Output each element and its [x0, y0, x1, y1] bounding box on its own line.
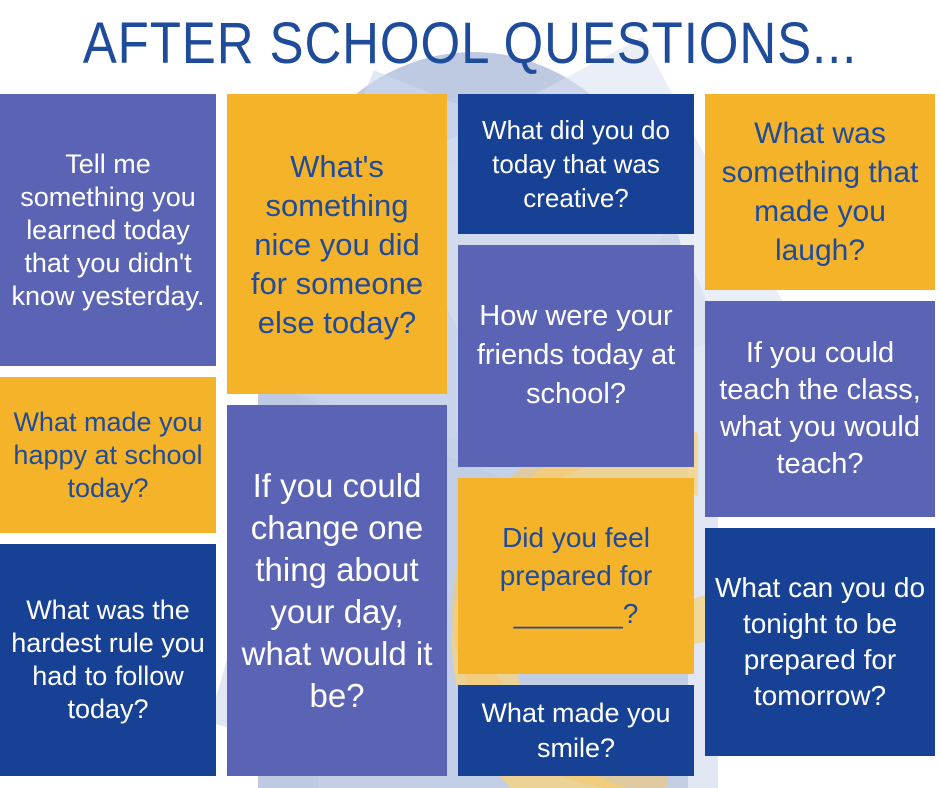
question-card-q7[interactable]: How were your friends today at school? — [458, 245, 694, 467]
question-text: How were your friends today at school? — [466, 297, 686, 414]
question-text: What was something that made you laugh? — [713, 114, 927, 270]
question-text: What can you do tonight to be prepared f… — [713, 570, 927, 714]
column-4: What was something that made you laugh? … — [705, 94, 935, 776]
question-card-q2[interactable]: What made you happy at school today? — [0, 377, 216, 533]
question-card-q11[interactable]: If you could teach the class, what you w… — [705, 301, 935, 517]
question-card-grid: Tell me something you learned today that… — [0, 94, 940, 776]
column-1: Tell me something you learned today that… — [0, 94, 216, 776]
question-card-q12[interactable]: What can you do tonight to be prepared f… — [705, 528, 935, 756]
question-text: Tell me something you learned today that… — [8, 148, 208, 313]
question-text: What was the hardest rule you had to fol… — [8, 594, 208, 726]
question-card-q6[interactable]: What did you do today that was creative? — [458, 94, 694, 234]
question-text: If you could change one thing about your… — [235, 465, 439, 717]
question-text: What did you do today that was creative? — [466, 113, 686, 215]
column-3: What did you do today that was creative?… — [458, 94, 694, 776]
question-card-q9[interactable]: What made you smile? — [458, 685, 694, 776]
question-text: If you could teach the class, what you w… — [713, 335, 927, 483]
page-title: AFTER SCHOOL QUESTIONS... — [56, 8, 883, 80]
column-2: What's something nice you did for someon… — [227, 94, 447, 776]
question-text: What's something nice you did for someon… — [235, 147, 439, 342]
question-text: What made you happy at school today? — [8, 406, 208, 505]
question-card-q8[interactable]: Did you feel prepared for _______? — [458, 478, 694, 675]
question-text: What made you smile? — [466, 696, 686, 766]
question-text: Did you feel prepared for _______? — [466, 519, 686, 633]
after-school-questions-poster: AFTER SCHOOL QUESTIONS... Tell me someth… — [0, 0, 940, 788]
question-card-q10[interactable]: What was something that made you laugh? — [705, 94, 935, 290]
question-card-q4[interactable]: What's something nice you did for someon… — [227, 94, 447, 394]
question-card-q1[interactable]: Tell me something you learned today that… — [0, 94, 216, 366]
question-card-q5[interactable]: If you could change one thing about your… — [227, 405, 447, 776]
question-card-q3[interactable]: What was the hardest rule you had to fol… — [0, 544, 216, 776]
